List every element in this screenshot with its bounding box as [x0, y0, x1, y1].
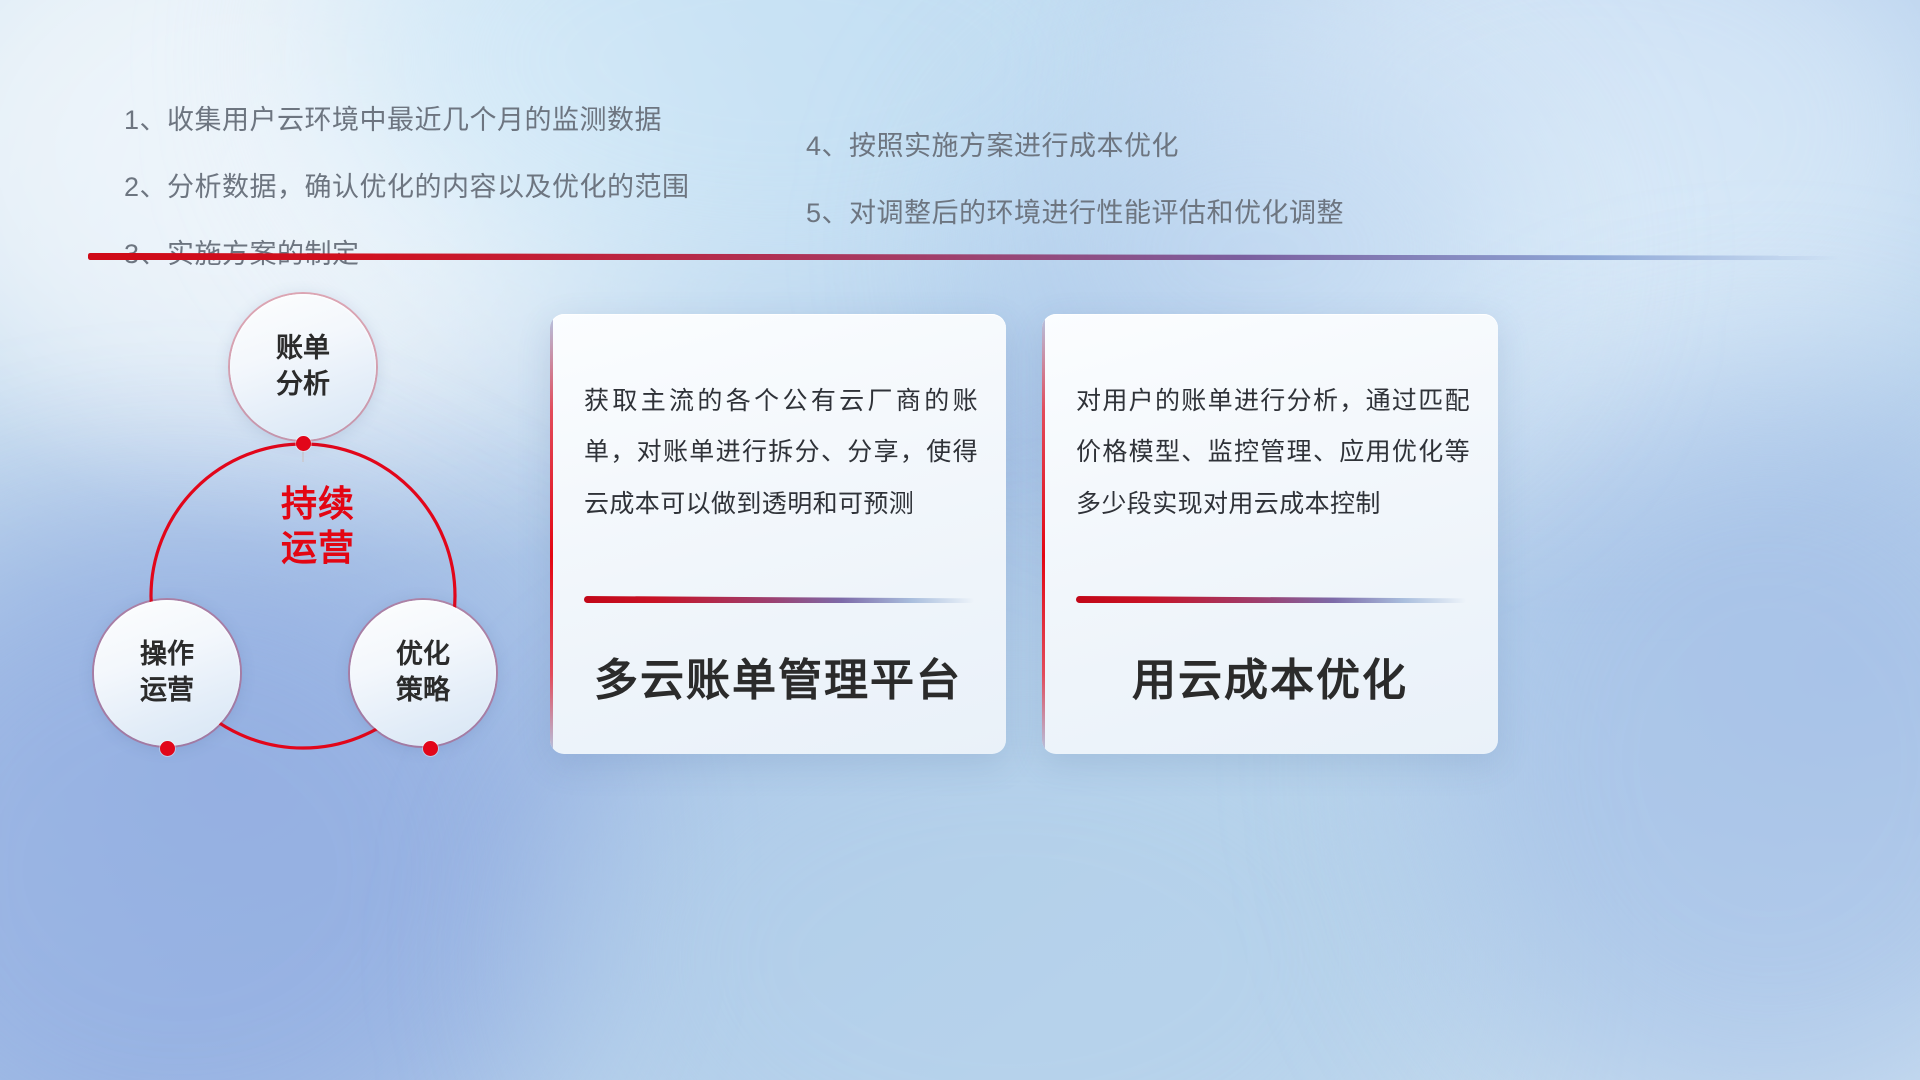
- card-body-text: 获取主流的各个公有云厂商的账单，对账单进行拆分、分享，使得云成本可以做到透明和可…: [584, 376, 978, 530]
- process-step-2: 2、分析数据，确认优化的内容以及优化的范围: [124, 165, 690, 204]
- node-dot-bottom-right: [423, 741, 438, 756]
- card-cloud-cost-optimization[interactable]: 对用户的账单进行分析，通过匹配价格模型、监控管理、应用优化等多少段实现对用云成本…: [1042, 314, 1498, 754]
- node-dot-bottom-left: [160, 741, 175, 756]
- center-label-line2: 运营: [238, 526, 398, 570]
- process-step-3: 3、实施方案的制定: [124, 232, 690, 271]
- card-title: 用云成本优化: [1042, 644, 1498, 708]
- bubble-label-line1: 账单: [276, 331, 330, 367]
- process-step-1: 1、收集用户云环境中最近几个月的监测数据: [124, 98, 690, 137]
- slide-root: 1、收集用户云环境中最近几个月的监测数据 2、分析数据，确认优化的内容以及优化的…: [0, 0, 1920, 1080]
- bubble-label-line2: 运营: [140, 673, 194, 709]
- diagram-center-label: 持续 运营: [238, 482, 398, 570]
- bubble-label-line2: 策略: [396, 673, 450, 709]
- process-steps-right: 4、按照实施方案进行成本优化 5、对调整后的环境进行性能评估和优化调整: [806, 124, 1344, 258]
- card-title: 多云账单管理平台: [550, 644, 1006, 708]
- card-divider: [1076, 596, 1466, 603]
- center-label-line1: 持续: [238, 482, 398, 526]
- bubble-bill-analysis[interactable]: 账单 分析: [230, 294, 376, 440]
- process-step-5: 5、对调整后的环境进行性能评估和优化调整: [806, 191, 1344, 230]
- continuous-operation-diagram: 账单 分析 操作 运营 优化 策略 持续 运营: [78, 286, 548, 786]
- card-body-text: 对用户的账单进行分析，通过匹配价格模型、监控管理、应用优化等多少段实现对用云成本…: [1076, 376, 1470, 530]
- bubble-ops-operation[interactable]: 操作 运营: [94, 600, 240, 746]
- bubble-label-line2: 分析: [276, 367, 330, 403]
- bubble-label-line1: 优化: [396, 637, 450, 673]
- bubble-label-line1: 操作: [140, 637, 194, 673]
- bubble-optimize-policy[interactable]: 优化 策略: [350, 600, 496, 746]
- process-steps-left: 1、收集用户云环境中最近几个月的监测数据 2、分析数据，确认优化的内容以及优化的…: [124, 98, 690, 299]
- process-step-4: 4、按照实施方案进行成本优化: [806, 124, 1344, 163]
- card-multi-cloud-bill-platform[interactable]: 获取主流的各个公有云厂商的账单，对账单进行拆分、分享，使得云成本可以做到透明和可…: [550, 314, 1006, 754]
- node-dot-top: [296, 436, 311, 451]
- card-divider: [584, 596, 974, 603]
